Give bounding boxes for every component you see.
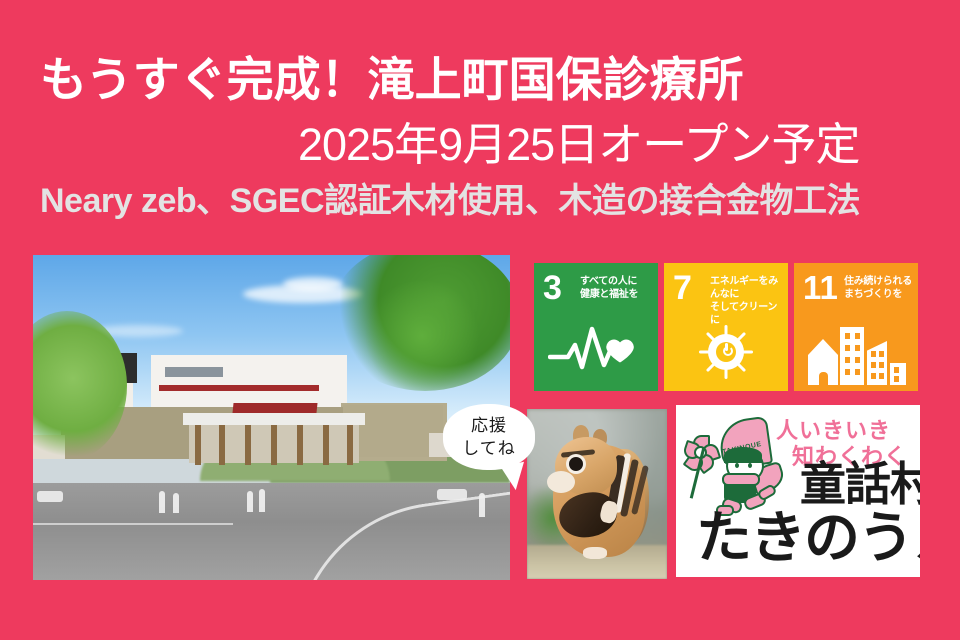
chipmunk-foot xyxy=(583,547,607,559)
takinoue-mascot-icon: TAKINOUE xyxy=(690,417,786,513)
city-buildings-icon-shape xyxy=(808,321,904,385)
render-entrance-canopy xyxy=(183,413,365,425)
render-entrance-roof-red xyxy=(232,403,317,413)
speech-bubble: 応援 してね xyxy=(443,404,535,470)
render-window-strip xyxy=(165,367,223,377)
render-column xyxy=(219,425,225,465)
sdg-badge-3: 3 すべての人に 健康と福祉を xyxy=(534,263,658,391)
render-road-marking xyxy=(33,523,233,525)
render-person xyxy=(259,489,265,512)
speech-bubble-tail xyxy=(501,462,530,492)
render-column xyxy=(271,425,277,465)
poster-canvas: もうすぐ完成！滝上町国保診療所 2025年9月25日オープン予定 Neary z… xyxy=(0,0,960,640)
sdg-badge-group: 3 すべての人に 健康と福祉を 7 エネルギーをみんなに そしてクリーンに xyxy=(534,263,924,391)
headline-line-2: 2025年9月25日オープン予定 xyxy=(298,118,860,172)
render-tree xyxy=(362,281,482,391)
headline-line-1: もうすぐ完成！滝上町国保診療所 xyxy=(40,52,744,108)
town-logo-card: TAKINOUE 人いきいき 知わくわく 童話村 たきのうえ xyxy=(676,405,920,577)
sdg-badge-3-number: 3 xyxy=(543,271,562,305)
sdg-badge-11-title-line-2: まちづくりを xyxy=(844,288,916,301)
render-car xyxy=(37,491,63,502)
ecg-heart-icon xyxy=(534,315,658,389)
sun-power-icon-shape xyxy=(697,323,755,381)
render-column xyxy=(297,425,303,465)
render-person xyxy=(173,493,179,513)
mascot-hair xyxy=(724,447,762,463)
mascot-eye xyxy=(748,463,752,468)
mascot-eye xyxy=(735,463,739,468)
city-buildings-icon xyxy=(794,315,918,389)
building-render-image xyxy=(33,255,510,580)
sdg-badge-11-number: 11 xyxy=(803,271,838,305)
render-cloud xyxy=(283,277,343,291)
render-person xyxy=(247,491,253,512)
town-logo-inner: TAKINOUE 人いきいき 知わくわく 童話村 たきのうえ xyxy=(680,409,916,573)
render-column xyxy=(245,425,251,465)
chipmunk-muzzle xyxy=(547,471,575,493)
chipmunk-photo xyxy=(527,409,667,579)
render-person xyxy=(159,491,165,513)
sdg-badge-7-title-line-1: エネルギーをみんなに xyxy=(710,275,784,301)
sdg-badge-3-title: すべての人に 健康と福祉を xyxy=(580,275,654,301)
sdg-badge-11-title: 住み続けられる まちづくりを xyxy=(844,275,916,301)
chipmunk-eye xyxy=(569,457,583,471)
render-column xyxy=(195,425,201,465)
render-roof-band xyxy=(159,385,319,391)
sdg-badge-11: 11 住み続けられる まちづくりを xyxy=(794,263,918,391)
speech-bubble-line-1: 応援 xyxy=(471,414,507,437)
render-column xyxy=(323,425,329,465)
sdg-badge-7-number: 7 xyxy=(673,271,692,305)
sdg-badge-3-title-line-1: すべての人に xyxy=(580,275,654,288)
town-logo-title-sub: たきのうえ xyxy=(696,509,920,567)
headline-line-3: Neary zeb、SGEC認証木材使用、木造の接合金物工法 xyxy=(40,180,860,222)
render-column xyxy=(347,425,353,465)
ecg-heart-icon-svg xyxy=(548,321,644,377)
sdg-badge-3-title-line-2: 健康と福祉を xyxy=(580,288,654,301)
sun-power-icon xyxy=(664,315,788,389)
mascot-scarf xyxy=(722,473,760,486)
sdg-badge-11-title-line-1: 住み続けられる xyxy=(844,275,916,288)
speech-bubble-line-2: してね xyxy=(462,437,516,460)
town-logo-title-main: 童話村 xyxy=(800,461,920,507)
sdg-badge-7: 7 エネルギーをみんなに そしてクリーンに xyxy=(664,263,788,391)
